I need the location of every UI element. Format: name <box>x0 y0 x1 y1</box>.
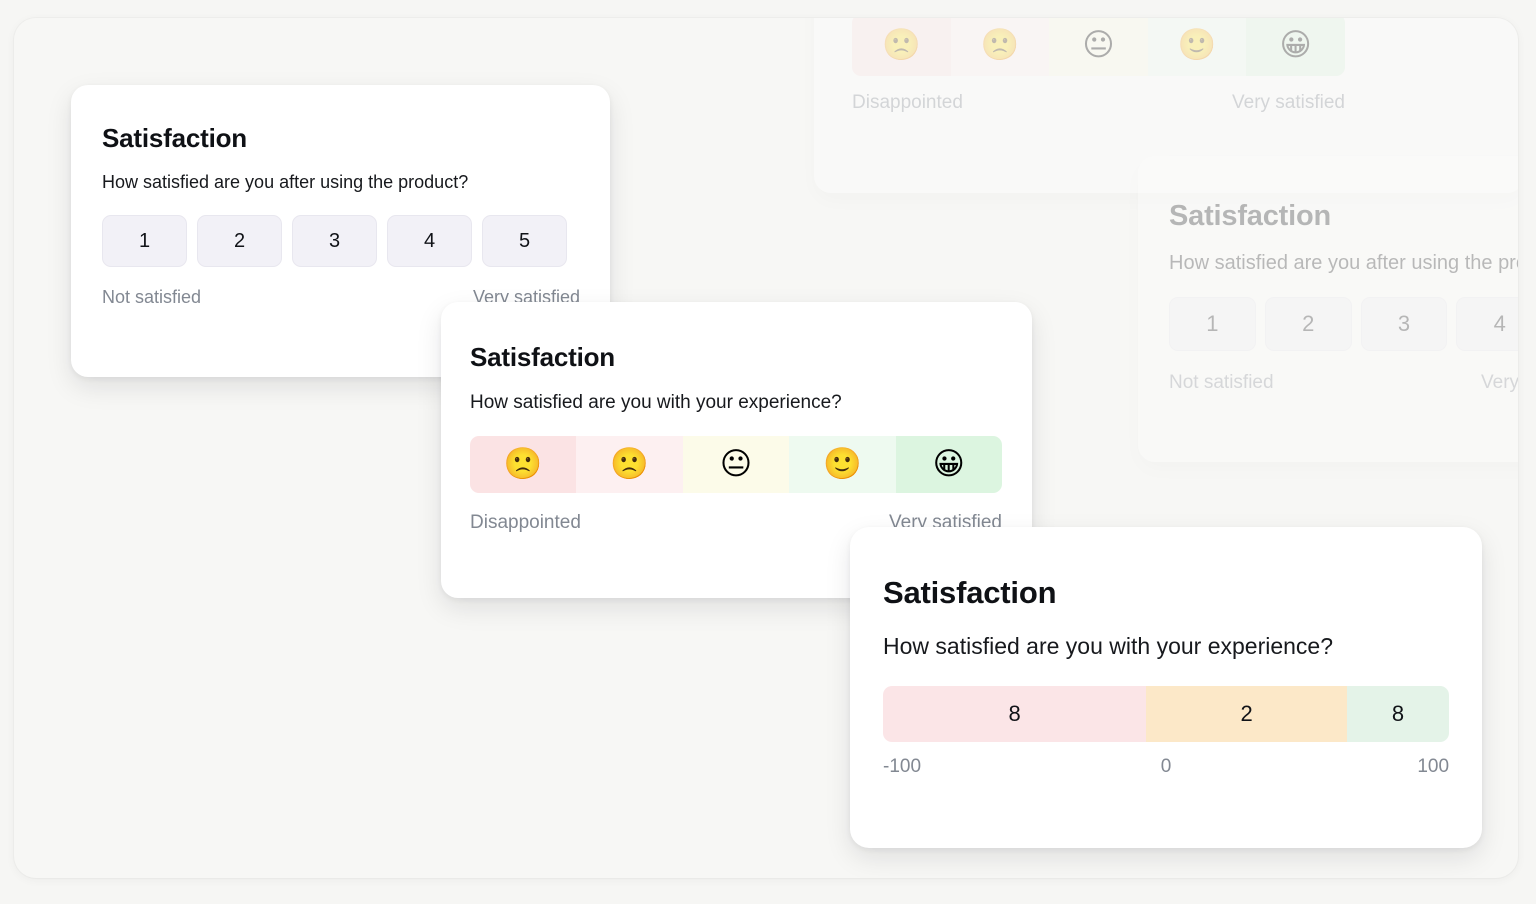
neutral-face-icon[interactable]: 😐 <box>1049 18 1148 76</box>
rating-option-1[interactable]: 1 <box>1169 297 1256 351</box>
nps-segment-passives[interactable]: 2 <box>1146 686 1347 742</box>
neutral-face-icon[interactable]: 😐 <box>683 436 789 493</box>
slightly-smiling-face-icon[interactable]: 🙂 <box>1148 18 1247 76</box>
scale-legend: Disappointed Very satisfied <box>852 92 1345 114</box>
satisfaction-numeric-card-background-right[interactable]: Satisfaction How satisfied are you after… <box>1138 156 1518 462</box>
page-title: Satisfaction <box>850 527 1482 611</box>
scale-legend-left: Not satisfied <box>1169 372 1274 394</box>
nps-stacked-bar[interactable]: 8 2 8 <box>883 686 1449 742</box>
scale-legend-left: Disappointed <box>470 512 581 534</box>
nps-axis-mid: 0 <box>1072 756 1261 778</box>
numeric-rating-scale[interactable]: 1 2 3 4 5 <box>102 215 588 267</box>
rating-option-4[interactable]: 4 <box>387 215 472 267</box>
frowning-face-icon[interactable]: 🙁 <box>470 436 576 493</box>
slightly-frowning-face-icon[interactable]: 🙁 <box>951 18 1050 76</box>
rating-option-2[interactable]: 2 <box>197 215 282 267</box>
survey-question: How satisfied are you with your experien… <box>441 373 1032 414</box>
grinning-face-icon[interactable]: 😀 <box>1246 18 1345 76</box>
rating-option-5[interactable]: 5 <box>482 215 567 267</box>
page-title: Satisfaction <box>71 85 610 154</box>
frowning-face-icon[interactable]: 🙁 <box>852 18 951 76</box>
rating-option-3[interactable]: 3 <box>292 215 377 267</box>
nps-axis-max: 100 <box>1260 756 1449 778</box>
outer-panel: Satisfaction How satisfied are you with … <box>14 18 1518 878</box>
nps-segment-promoters[interactable]: 8 <box>1347 686 1449 742</box>
scale-legend-left: Disappointed <box>852 92 963 114</box>
satisfaction-nps-card[interactable]: Satisfaction How satisfied are you with … <box>850 527 1482 848</box>
rating-option-3[interactable]: 3 <box>1361 297 1448 351</box>
nps-segment-detractors[interactable]: 8 <box>883 686 1146 742</box>
page-title: Satisfaction <box>1138 156 1518 233</box>
screenshot-stage: Satisfaction How satisfied are you with … <box>0 0 1536 904</box>
survey-question: How satisfied are you with your experien… <box>850 611 1482 660</box>
numeric-rating-scale[interactable]: 1 2 3 4 5 <box>1169 297 1518 351</box>
page-title: Satisfaction <box>441 302 1032 373</box>
survey-question: How satisfied are you after using the pr… <box>1138 233 1518 275</box>
survey-question: How satisfied are you after using the pr… <box>71 154 610 193</box>
rating-option-1[interactable]: 1 <box>102 215 187 267</box>
emoji-rating-scale[interactable]: 🙁 🙁 😐 🙂 😀 <box>852 18 1345 76</box>
slightly-smiling-face-icon[interactable]: 🙂 <box>789 436 895 493</box>
scale-legend-left: Not satisfied <box>102 287 201 308</box>
emoji-rating-scale[interactable]: 🙁 🙁 😐 🙂 😀 <box>470 436 1002 493</box>
scale-legend-right: Very satisfied <box>1232 92 1345 114</box>
grinning-face-icon[interactable]: 😀 <box>896 436 1002 493</box>
scale-legend-right: Very satisfied <box>1481 372 1518 394</box>
slightly-frowning-face-icon[interactable]: 🙁 <box>576 436 682 493</box>
nps-axis-legend: -100 0 100 <box>883 756 1449 778</box>
rating-option-2[interactable]: 2 <box>1265 297 1352 351</box>
rating-option-4[interactable]: 4 <box>1456 297 1518 351</box>
scale-legend: Not satisfied Very satisfied <box>1169 372 1518 394</box>
nps-axis-min: -100 <box>883 756 1072 778</box>
